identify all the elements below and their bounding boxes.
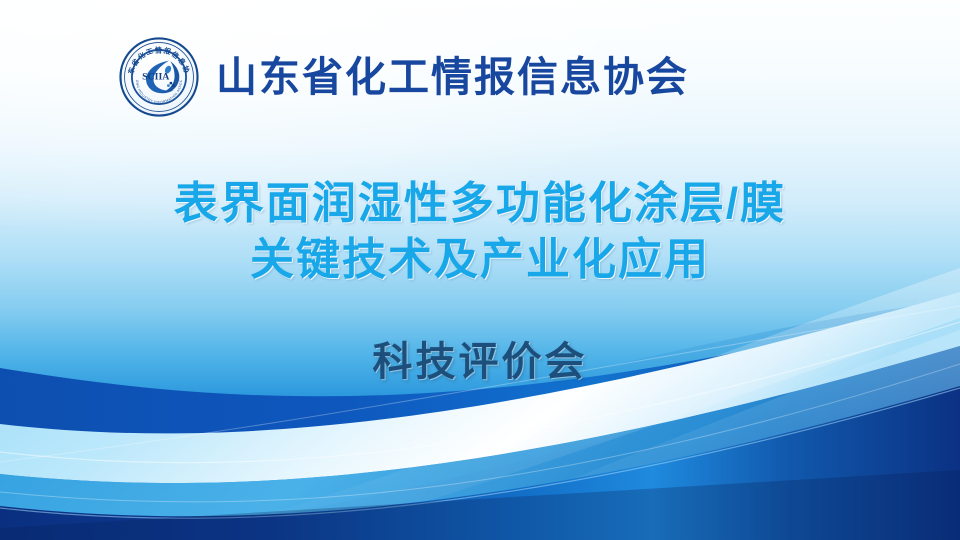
seal-logo-icon: 山东省化工情报信息协会 SHANDONG INDUSTRY INFORMATIO… — [118, 36, 200, 118]
slide-title: 表界面润湿性多功能化涂层/膜 关键技术及产业化应用 — [0, 176, 960, 288]
association-seal-logo: 山东省化工情报信息协会 SHANDONG INDUSTRY INFORMATIO… — [118, 36, 200, 118]
association-name-text: 山东省化工情报信息协会 — [216, 57, 689, 98]
presentation-title-slide: 山东省化工情报信息协会 SHANDONG INDUSTRY INFORMATIO… — [0, 0, 960, 540]
slide-subtitle-container: 科技评价会 — [0, 338, 960, 386]
title-line-2: 关键技术及产业化应用 — [0, 232, 960, 288]
title-line-1: 表界面润湿性多功能化涂层/膜 — [0, 176, 960, 232]
slide-header: 山东省化工情报信息协会 SHANDONG INDUSTRY INFORMATIO… — [118, 36, 689, 118]
logo-acronym-text: SCIIA — [142, 71, 170, 82]
subtitle-text: 科技评价会 — [0, 338, 960, 386]
